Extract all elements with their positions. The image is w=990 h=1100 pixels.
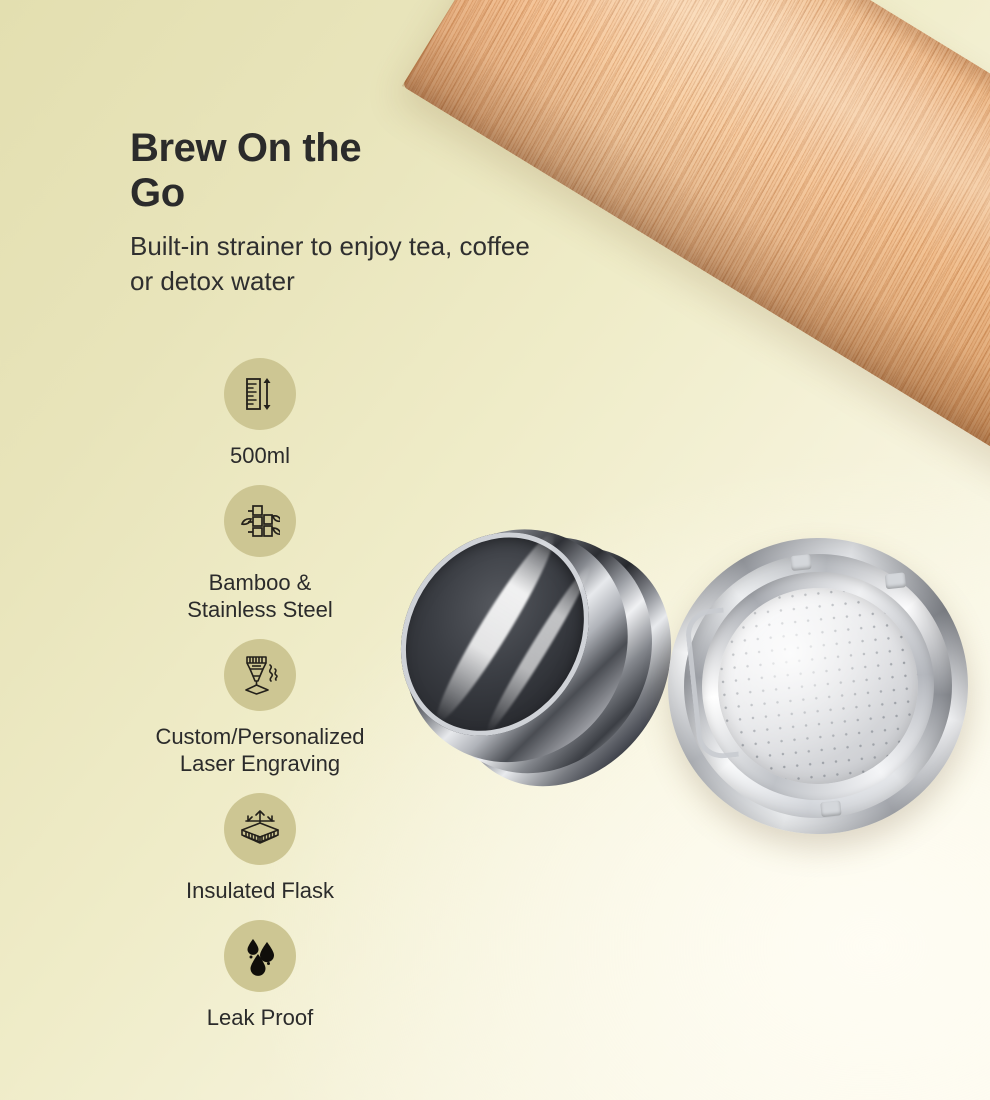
strainer-tab — [885, 572, 906, 589]
bamboo-node-line — [402, 0, 571, 88]
feature-item-leakproof: Leak Proof — [0, 920, 520, 1031]
feature-icon-badge — [224, 920, 296, 992]
feature-label: 500ml — [230, 442, 290, 469]
feature-icon-badge — [224, 485, 296, 557]
feature-label: Custom/Personalized Laser Engraving — [155, 723, 364, 777]
feature-item-engraving: Custom/Personalized Laser Engraving — [0, 639, 520, 777]
water-droplets-icon — [242, 936, 278, 976]
feature-label: Leak Proof — [207, 1004, 313, 1031]
feature-list: 500ml Bamboo & Stainless Steel — [0, 358, 520, 1047]
feature-label: Insulated Flask — [186, 877, 334, 904]
insulation-layers-icon — [238, 809, 282, 849]
page-title: Brew On the Go — [130, 126, 420, 216]
strainer-tab — [820, 800, 841, 817]
ruler-capacity-icon — [243, 376, 277, 412]
bamboo-stalk-icon — [240, 502, 280, 540]
feature-item-material: Bamboo & Stainless Steel — [0, 485, 520, 623]
feature-label: Bamboo & Stainless Steel — [187, 569, 333, 623]
feature-icon-badge — [224, 639, 296, 711]
marketing-copy-column: Brew On the Go Built-in strainer to enjo… — [0, 0, 420, 1100]
feature-item-capacity: 500ml — [0, 358, 520, 469]
feature-icon-badge — [224, 793, 296, 865]
feature-icon-badge — [224, 358, 296, 430]
strainer-tab — [790, 554, 811, 571]
laser-engraver-icon — [239, 654, 281, 696]
tea-strainer — [653, 523, 982, 849]
feature-item-insulation: Insulated Flask — [0, 793, 520, 904]
page-subtitle: Built-in strainer to enjoy tea, coffee o… — [130, 229, 560, 299]
